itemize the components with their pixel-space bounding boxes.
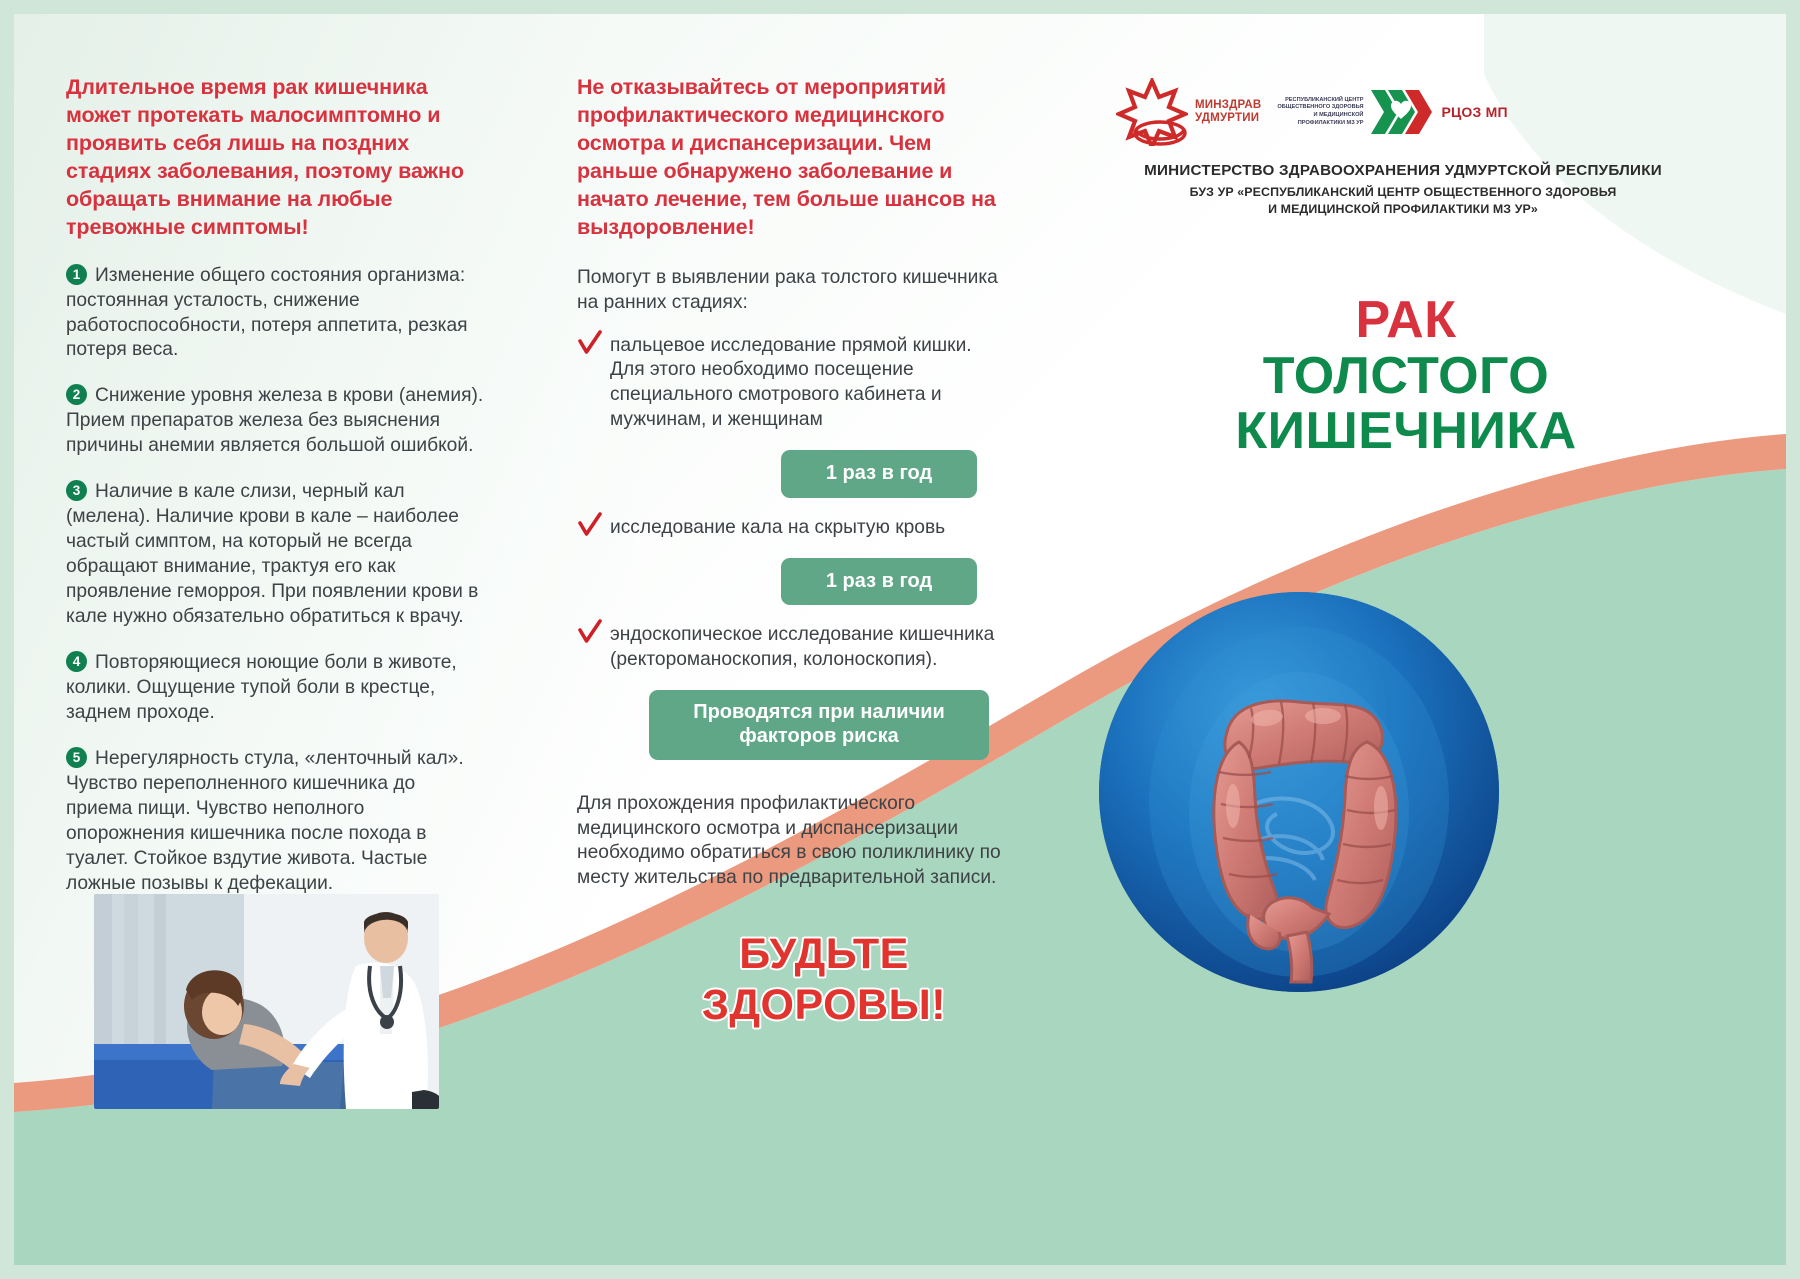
screening-intro-text: Помогут в выявлении рака толстого кишечн… [577, 266, 1007, 316]
checkmark-icon [577, 512, 603, 538]
symptom-text: Снижение уровня железа в крови (анемия).… [66, 385, 483, 456]
symptom-item: 2Снижение уровня железа в крови (анемия)… [66, 384, 486, 459]
ministry-institution: БУЗ УР «РЕСПУБЛИКАНСКИЙ ЦЕНТР ОБЩЕСТВЕНН… [1092, 184, 1714, 217]
title-word-rak: РАК [1098, 293, 1714, 348]
rcoz-small-line1: РЕСПУБЛИКАНСКИЙ ЦЕНТР [1277, 97, 1363, 105]
symptom-number-badge: 4 [66, 651, 87, 672]
rcoz-mp-logo: РЕСПУБЛИКАНСКИЙ ЦЕНТР ОБЩЕСТВЕННОГО ЗДОР… [1277, 84, 1507, 140]
screening-check-item: эндоскопическое исследование кишечника (… [577, 623, 1007, 673]
symptom-number-badge: 3 [66, 480, 87, 501]
brochure-main-title: РАК ТОЛСТОГО КИШЕЧНИКА [1074, 293, 1714, 458]
screening-check-text: исследование кала на скрытую кровь [610, 517, 945, 538]
doctor-examining-patient-photo [94, 894, 439, 1109]
symptom-number-badge: 5 [66, 747, 87, 768]
udmurt-star-bowl-icon [1116, 78, 1188, 146]
checkmark-icon [577, 619, 603, 645]
title-word-kishechnika: КИШЕЧНИКА [1098, 404, 1714, 459]
symptom-text: Наличие в кале слизи, черный кал (мелена… [66, 481, 478, 627]
symptom-number-badge: 1 [66, 264, 87, 285]
minzdrav-logo-text: МИНЗДРАВ УДМУРТИИ [1195, 99, 1261, 125]
logo-row: МИНЗДРАВ УДМУРТИИ РЕСПУБЛИКАНСКИЙ ЦЕНТР … [1074, 74, 1714, 150]
screening-check-text: эндоскопическое исследование кишечника (… [610, 624, 994, 670]
column-screening: Не отказывайтесь от мероприятий профилак… [577, 74, 1007, 891]
checkmark-icon [577, 330, 603, 356]
symptom-item: 1Изменение общего состояния организма: п… [66, 264, 486, 364]
screening-check-text: пальцевое исследование прямой кишки. Для… [610, 335, 972, 431]
brochure-page: Длительное время рак кишечника может про… [0, 0, 1800, 1279]
symptom-text: Изменение общего состояния организма: по… [66, 265, 468, 361]
symptom-number-badge: 2 [66, 384, 87, 405]
symptom-item: 3Наличие в кале слизи, черный кал (мелен… [66, 480, 486, 630]
risk-factors-pill-button[interactable]: Проводятся при наличии факторов риска [649, 690, 989, 759]
minzdrav-line1: МИНЗДРАВ [1195, 99, 1261, 112]
screening-check-item: исследование кала на скрытую кровь [577, 516, 1007, 541]
minzdrav-line2: УДМУРТИИ [1195, 112, 1261, 125]
minzdrav-udmurtii-logo: МИНЗДРАВ УДМУРТИИ [1116, 78, 1261, 146]
column-branding: МИНЗДРАВ УДМУРТИИ РЕСПУБЛИКАНСКИЙ ЦЕНТР … [1074, 74, 1714, 459]
screening-lead-heading: Не отказывайтесь от мероприятий профилак… [577, 74, 1007, 242]
rcoz-chevron-heart-icon [1371, 84, 1433, 140]
symptoms-list: 1Изменение общего состояния организма: п… [66, 264, 486, 897]
screening-closing-text: Для прохождения профилактического медици… [577, 792, 1007, 892]
slogan-line2: ЗДОРОВЫ! [674, 980, 974, 1031]
ministry-credit-block: МИНИСТЕРСТВО ЗДРАВООХРАНЕНИЯ УДМУРТСКОЙ … [1074, 162, 1714, 217]
large-intestine-colon-illustration [1099, 592, 1499, 992]
symptoms-lead-heading: Длительное время рак кишечника может про… [66, 74, 486, 242]
brochure-inner-frame: Длительное время рак кишечника может про… [14, 14, 1786, 1265]
screening-check-item: пальцевое исследование прямой кишки. Для… [577, 334, 1007, 434]
symptom-item: 5Нерегулярность стула, «ленточный кал». … [66, 747, 486, 897]
column-symptoms: Длительное время рак кишечника может про… [66, 74, 486, 918]
rcoz-descriptor-text: РЕСПУБЛИКАНСКИЙ ЦЕНТР ОБЩЕСТВЕННОГО ЗДОР… [1277, 97, 1363, 127]
rcoz-small-line3: И МЕДИЦИНСКОЙ [1277, 112, 1363, 120]
slogan-line1: БУДЬТЕ [674, 929, 974, 980]
frequency-pill-button[interactable]: 1 раз в год [781, 450, 977, 498]
rcoz-label-text: РЦОЗ МП [1441, 104, 1507, 120]
title-word-tolstogo: ТОЛСТОГО [1098, 349, 1714, 404]
ministry-name: МИНИСТЕРСТВО ЗДРАВООХРАНЕНИЯ УДМУРТСКОЙ … [1092, 162, 1714, 179]
ministry-institution-line2: И МЕДИЦИНСКОЙ ПРОФИЛАКТИКИ МЗ УР» [1092, 201, 1714, 218]
symptom-text: Повторяющиеся ноющие боли в животе, коли… [66, 652, 457, 723]
frequency-pill-button[interactable]: 1 раз в год [781, 558, 977, 606]
slogan-be-healthy: БУДЬТЕ ЗДОРОВЫ! [674, 929, 974, 1030]
symptom-text: Нерегулярность стула, «ленточный кал». Ч… [66, 748, 464, 894]
symptom-item: 4Повторяющиеся ноющие боли в животе, кол… [66, 651, 486, 726]
ministry-institution-line1: БУЗ УР «РЕСПУБЛИКАНСКИЙ ЦЕНТР ОБЩЕСТВЕНН… [1092, 184, 1714, 201]
rcoz-small-line2: ОБЩЕСТВЕННОГО ЗДОРОВЬЯ [1277, 104, 1363, 112]
rcoz-small-line4: ПРОФИЛАКТИКИ МЗ УР [1277, 120, 1363, 128]
